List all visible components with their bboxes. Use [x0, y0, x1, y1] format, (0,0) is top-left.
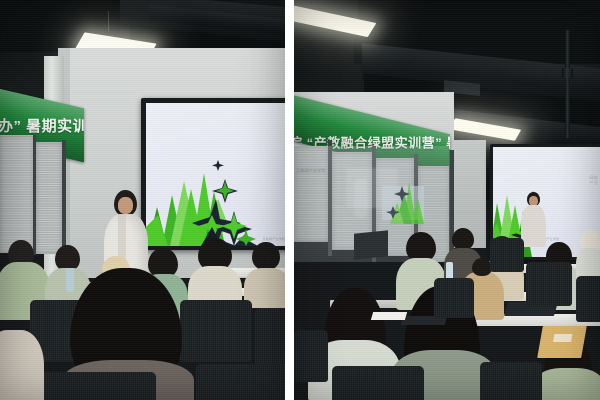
- chair-right-c: [434, 278, 474, 318]
- glass-reflection-star-graphic: [382, 176, 426, 224]
- screen-watermark-left: 互联网产业学院: [263, 237, 285, 241]
- window-blind-left-b: [36, 142, 62, 254]
- chair-behind-glass: [354, 230, 388, 260]
- banner-text-left: 办” 暑期实训: [0, 115, 84, 136]
- screen-star-graphic-left: [146, 103, 285, 246]
- photo-left: 办” 暑期实训: [0, 0, 285, 400]
- photo-right: 院 “产教融合绿盟实训营” 暑期实训 互联网产业学院: [294, 0, 600, 400]
- screen-watermark-right: 网络产业: [589, 175, 598, 185]
- chair-right-b: [526, 262, 572, 306]
- chair-left-b: [180, 300, 252, 362]
- glass-reflection-person: [354, 178, 368, 218]
- lamp-stem: [108, 11, 109, 31]
- chair-right-e: [294, 330, 328, 382]
- window-blind-left-a: [0, 135, 34, 253]
- paper-right: [371, 312, 407, 320]
- chair-right-a: [490, 238, 524, 272]
- chair-right-front: [332, 366, 424, 400]
- projection-screen-left: 互联网产业学院: [146, 103, 285, 246]
- foreground-shoulder-left: [0, 330, 44, 400]
- chair-left-front: [36, 372, 156, 400]
- chair-left-front2: [196, 364, 285, 400]
- water-bottle-blue: [66, 268, 74, 292]
- kraft-folder-right: [537, 326, 587, 358]
- glass-reflection-text: 互联网产业学院: [296, 168, 325, 174]
- chair-left-c: [255, 308, 285, 366]
- chair-right-d: [576, 276, 600, 322]
- collage-gutter: [285, 0, 294, 400]
- chair-right-front2: [480, 362, 542, 400]
- photo-collage: 办” 暑期实训: [0, 0, 600, 400]
